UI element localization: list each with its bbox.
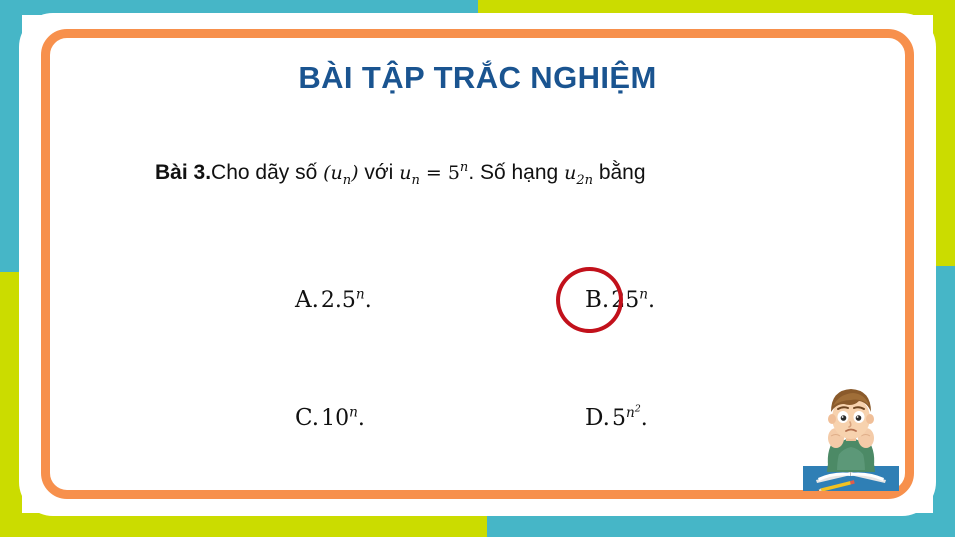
answer-option-d-exponent: n2 [626,405,641,421]
answer-option-c[interactable]: C.10n. [295,404,365,431]
sequence-subscript: n [343,173,351,188]
formula-base: u [399,162,411,184]
question-text-4: bằng [593,161,646,184]
answer-option-b-exponent: n [639,287,648,303]
frame-band-right-lime [933,0,955,266]
frame-band-bottom-lime [0,513,487,537]
question-text-2: với [359,161,400,184]
answer-option-a-base: 2.5 [321,288,356,313]
slide-canvas: BÀI TẬP TRẮC NGHIỆM Bài 3.Cho dãy số (un… [0,0,955,537]
formula-subscript: n [411,173,419,188]
answer-option-b-label: B. [585,287,609,313]
term-base: u [564,162,576,184]
page-title: BÀI TẬP TRẮC NGHIỆM [0,60,955,96]
formula-equals: = 5 [420,162,460,184]
answer-option-a[interactable]: A.2.5n. [295,286,372,313]
answer-option-b[interactable]: B.25n. [585,286,655,313]
frame-band-bottom-teal [487,513,955,537]
answer-option-c-exponent: n [349,405,358,421]
sequence-notation-open: (u [323,162,343,184]
answer-option-b-base: 25 [611,288,639,313]
question-text-1: Cho dãy số [211,161,323,184]
answer-option-d-label: D. [585,405,610,431]
answer-option-c-label: C. [295,405,319,431]
term-subscript: 2n [576,173,593,188]
question-text-3: . Số hạng [468,161,564,184]
content-card [41,29,914,499]
answer-option-d-base: 5 [612,406,626,431]
answer-option-c-period: . [358,406,365,431]
answer-option-b-expression: 25n. [611,288,655,313]
question-statement: Bài 3.Cho dãy số (un) với un = 5n. Số hạ… [155,160,646,185]
answer-option-d-exponent-base: n [626,405,635,421]
sequence-notation-close: ) [351,162,358,184]
frame-band-right-teal [933,266,955,537]
answer-option-d-expression: 5n2. [612,406,648,431]
answer-option-a-period: . [365,288,372,313]
answer-option-c-expression: 10n. [321,406,365,431]
answer-option-a-exponent: n [356,287,365,303]
answer-option-d[interactable]: D.5n2. [585,404,648,431]
answer-option-a-expression: 2.5n. [321,288,372,313]
answer-option-d-period: . [641,406,648,431]
thinking-student-illustration [803,376,899,491]
answer-option-b-period: . [648,288,655,313]
answer-option-c-base: 10 [321,406,349,431]
question-number: Bài 3. [155,161,211,184]
answer-option-a-label: A. [295,287,319,313]
